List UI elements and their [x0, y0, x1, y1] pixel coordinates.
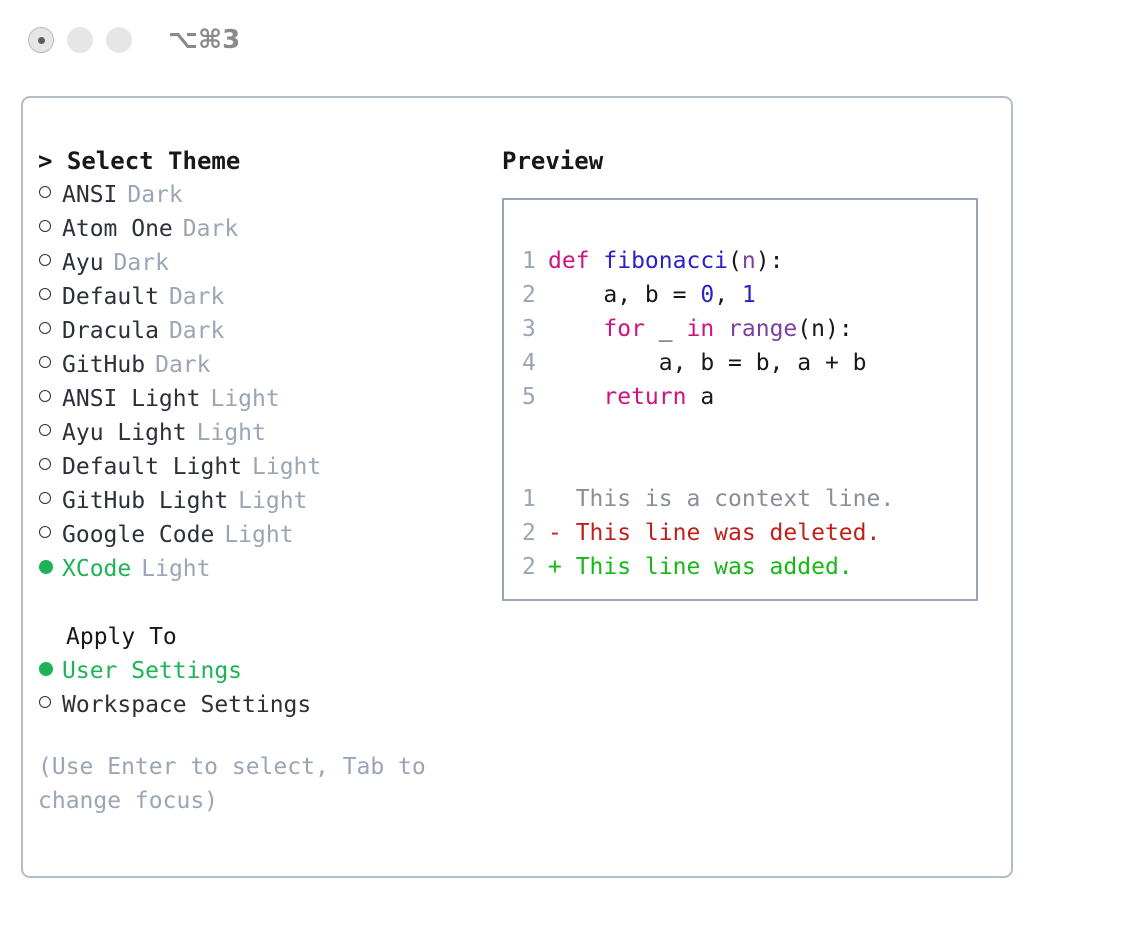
option-label: Workspace Settings	[62, 688, 311, 722]
app-window: ⌥⌘3 > Select Theme ANSIDarkAtom OneDarkA…	[0, 0, 1140, 934]
option-variant-badge: Light	[210, 382, 279, 416]
diff-line-del: 2- This line was deleted.	[522, 516, 976, 550]
window-dot-inner-icon	[38, 37, 45, 44]
diff-sample: 1 This is a context line.2- This line wa…	[522, 482, 976, 584]
option-label: Ayu Light	[62, 416, 187, 450]
code-token-plain	[714, 316, 728, 342]
option-label: ANSI Light	[62, 382, 200, 416]
diff-line-text: - This line was deleted.	[548, 516, 880, 550]
code-token-kw: in	[686, 316, 714, 342]
apply-to-list[interactable]: User SettingsWorkspace Settings	[38, 654, 488, 722]
code-line: 4 a, b = b, a + b	[522, 346, 976, 380]
code-token-id: n	[742, 248, 756, 274]
theme-option-default-light[interactable]: Default LightLight	[38, 450, 488, 484]
code-token-kw: def	[548, 248, 603, 274]
theme-option-atom-one[interactable]: Atom OneDark	[38, 212, 488, 246]
code-token-plain: ,	[714, 282, 742, 308]
code-line-text: def fibonacci(n):	[548, 244, 783, 278]
option-label: GitHub	[62, 348, 145, 382]
diff-line-ctx: 1 This is a context line.	[522, 482, 976, 516]
code-token-plain: a, b =	[548, 282, 700, 308]
radio-ring-icon	[39, 492, 51, 504]
code-line-number: 2	[522, 278, 548, 312]
main-panel: > Select Theme ANSIDarkAtom OneDarkAyuDa…	[21, 96, 1013, 878]
option-label: Dracula	[62, 314, 159, 348]
option-variant-badge: Light	[197, 416, 266, 450]
select-theme-heading: > Select Theme	[38, 144, 488, 178]
window-controls	[28, 27, 132, 53]
option-variant-badge: Dark	[169, 280, 224, 314]
keyboard-hint-text: (Use Enter to select, Tab to change focu…	[38, 750, 458, 818]
code-line: 1def fibonacci(n):	[522, 244, 976, 278]
code-token-plain: ):	[756, 248, 784, 274]
code-token-num: 1	[742, 282, 756, 308]
radio-ring-icon	[39, 288, 51, 300]
panel-columns: > Select Theme ANSIDarkAtom OneDarkAyuDa…	[23, 98, 1011, 876]
window-dot-active-icon[interactable]	[28, 27, 54, 53]
option-variant-badge: Dark	[183, 212, 238, 246]
code-token-plain	[548, 316, 603, 342]
code-line: 3 for _ in range(n):	[522, 312, 976, 346]
code-line-number: 3	[522, 312, 548, 346]
theme-option-ansi-light[interactable]: ANSI LightLight	[38, 382, 488, 416]
option-label: Google Code	[62, 518, 214, 552]
code-token-plain: a	[686, 384, 714, 410]
option-variant-badge: Dark	[169, 314, 224, 348]
apply-to-label: Apply To	[38, 620, 488, 654]
theme-picker-column: > Select Theme ANSIDarkAtom OneDarkAyuDa…	[38, 144, 488, 818]
code-line-text: a, b = 0, 1	[548, 278, 756, 312]
code-diff-separator	[522, 414, 976, 448]
preview-column: Preview 1def fibonacci(n):2 a, b = 0, 13…	[502, 144, 992, 601]
option-variant-badge: Light	[252, 450, 321, 484]
theme-option-dracula[interactable]: DraculaDark	[38, 314, 488, 348]
code-token-id: range	[728, 316, 797, 342]
code-token-num: 0	[700, 282, 714, 308]
option-label: User Settings	[62, 654, 242, 688]
theme-option-ayu-light[interactable]: Ayu LightLight	[38, 416, 488, 450]
apply-option-user-settings[interactable]: User Settings	[38, 654, 488, 688]
radio-ring-icon	[39, 526, 51, 538]
option-variant-badge: Light	[141, 552, 210, 586]
radio-ring-icon	[39, 186, 51, 198]
option-variant-badge: Light	[238, 484, 307, 518]
option-label: Ayu	[62, 246, 104, 280]
code-token-plain: a, b = b, a + b	[548, 350, 867, 376]
theme-option-ansi[interactable]: ANSIDark	[38, 178, 488, 212]
option-label: XCode	[62, 552, 131, 586]
radio-ring-icon	[39, 254, 51, 266]
code-token-kw: return	[603, 384, 686, 410]
radio-ring-icon	[39, 696, 51, 708]
list-spacer	[38, 586, 488, 620]
code-diff-separator-2	[522, 448, 976, 482]
code-token-plain: (n):	[797, 316, 852, 342]
code-sample: 1def fibonacci(n):2 a, b = 0, 13 for _ i…	[522, 244, 976, 414]
diff-line-number: 2	[522, 550, 548, 584]
radio-ring-icon	[39, 356, 51, 368]
radio-ring-icon	[39, 458, 51, 470]
diff-line-text: This is a context line.	[548, 482, 894, 516]
keyboard-shortcut-label: ⌥⌘3	[168, 25, 240, 55]
option-variant-badge: Dark	[114, 246, 169, 280]
code-token-plain: _	[645, 316, 687, 342]
theme-option-github-light[interactable]: GitHub LightLight	[38, 484, 488, 518]
code-token-fn: fibonacci	[603, 248, 728, 274]
option-variant-badge: Dark	[155, 348, 210, 382]
theme-option-default[interactable]: DefaultDark	[38, 280, 488, 314]
option-variant-badge: Light	[224, 518, 293, 552]
option-label: Default Light	[62, 450, 242, 484]
title-bar: ⌥⌘3	[0, 0, 1140, 80]
code-line: 5 return a	[522, 380, 976, 414]
window-dot-second-icon[interactable]	[67, 27, 93, 53]
preview-code-box: 1def fibonacci(n):2 a, b = 0, 13 for _ i…	[502, 198, 978, 601]
diff-line-add: 2+ This line was added.	[522, 550, 976, 584]
option-label: GitHub Light	[62, 484, 228, 518]
theme-option-xcode[interactable]: XCodeLight	[38, 552, 488, 586]
code-line-number: 4	[522, 346, 548, 380]
code-line-number: 5	[522, 380, 548, 414]
apply-option-workspace-settings[interactable]: Workspace Settings	[38, 688, 488, 722]
code-token-plain	[548, 384, 603, 410]
radio-ring-icon	[39, 220, 51, 232]
theme-option-github[interactable]: GitHubDark	[38, 348, 488, 382]
diff-line-text: + This line was added.	[548, 550, 853, 584]
preview-heading: Preview	[502, 144, 992, 178]
option-variant-badge: Dark	[127, 178, 182, 212]
theme-option-ayu[interactable]: AyuDark	[38, 246, 488, 280]
option-label: Default	[62, 280, 159, 314]
code-line: 2 a, b = 0, 1	[522, 278, 976, 312]
radio-ring-icon	[39, 424, 51, 436]
code-line-text: for _ in range(n):	[548, 312, 853, 346]
code-line-text: return a	[548, 380, 714, 414]
theme-option-google-code[interactable]: Google CodeLight	[38, 518, 488, 552]
diff-line-number: 1	[522, 482, 548, 516]
radio-ring-icon	[39, 322, 51, 334]
window-dot-third-icon[interactable]	[106, 27, 132, 53]
code-line-number: 1	[522, 244, 548, 278]
code-line-text: a, b = b, a + b	[548, 346, 867, 380]
option-label: Atom One	[62, 212, 173, 246]
option-label: ANSI	[62, 178, 117, 212]
code-token-plain: (	[728, 248, 742, 274]
radio-dot-icon	[39, 560, 53, 574]
theme-list[interactable]: ANSIDarkAtom OneDarkAyuDarkDefaultDarkDr…	[38, 178, 488, 586]
radio-dot-icon	[39, 662, 53, 676]
code-token-kw: for	[603, 316, 645, 342]
radio-ring-icon	[39, 390, 51, 402]
diff-line-number: 2	[522, 516, 548, 550]
